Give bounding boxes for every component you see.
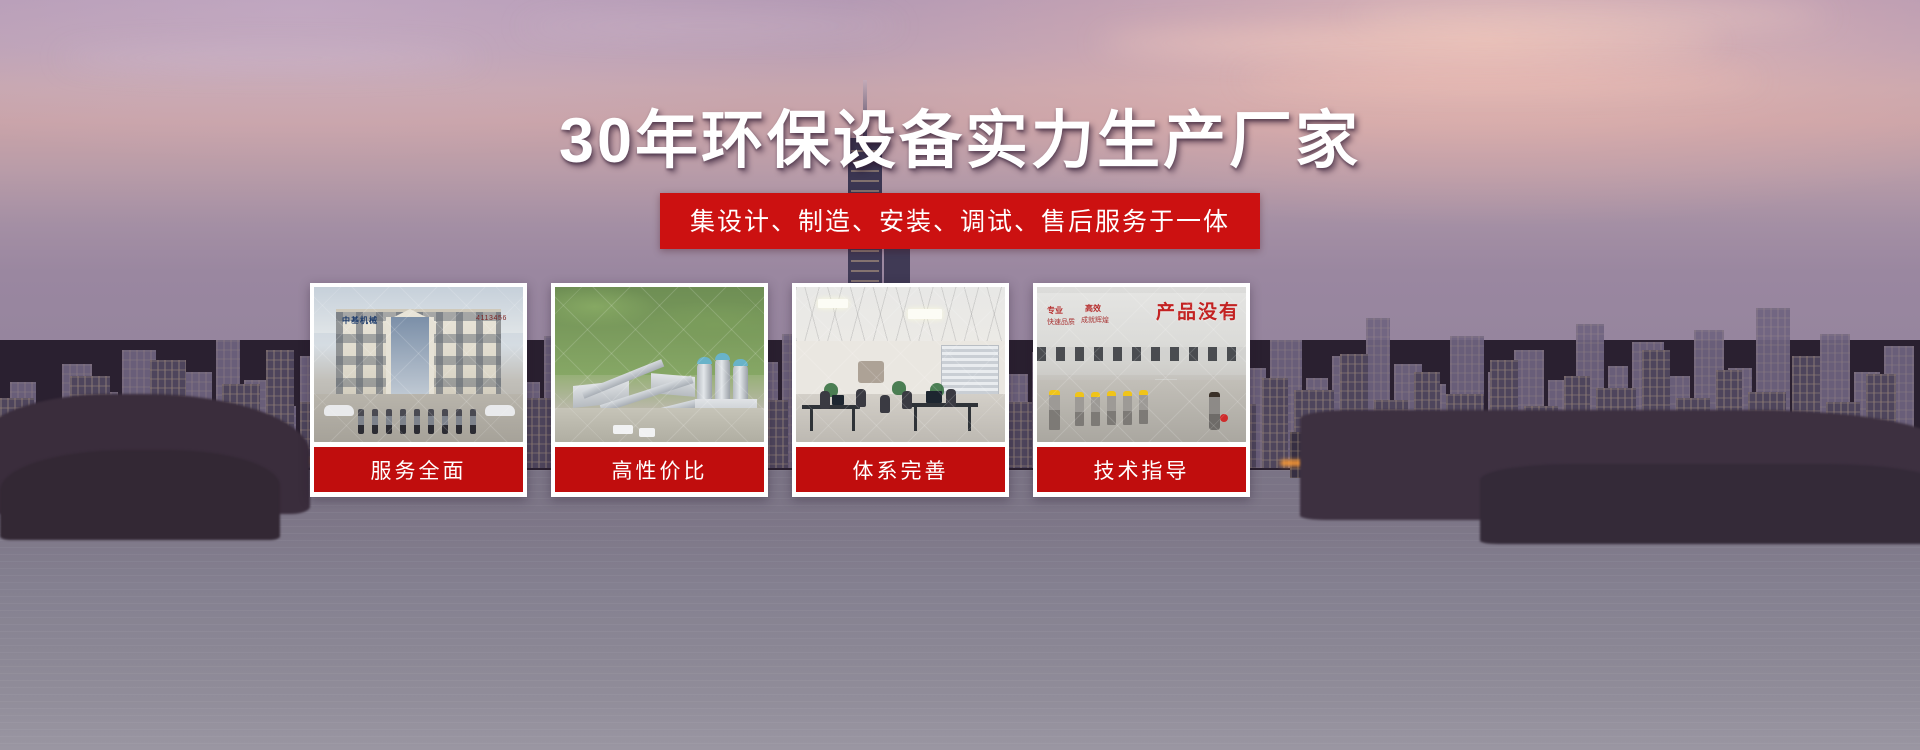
- banner-content: 30年环保设备实力生产厂家 集设计、制造、安装、调试、售后服务于一体 中基机械 …: [0, 0, 1920, 750]
- factory-wall-small-3: 高效: [1085, 303, 1101, 314]
- factory-wall-small-2: 快速品质: [1047, 317, 1075, 327]
- feature-card-list: 中基机械 4113456 服务全面: [310, 283, 1250, 497]
- wall-decal: [858, 361, 884, 383]
- feature-card-system[interactable]: 体系完善: [792, 283, 1009, 497]
- page-title: 30年环保设备实力生产厂家: [0, 104, 1920, 178]
- hero-banner: 30年环保设备实力生产厂家 集设计、制造、安装、调试、售后服务于一体 中基机械 …: [0, 0, 1920, 750]
- factory-wall-small-4: 成就辉煌: [1081, 315, 1109, 325]
- factory-wall-small-1: 专业: [1047, 305, 1063, 316]
- feature-card-value[interactable]: 高性价比: [551, 283, 768, 497]
- subtitle-badge: 集设计、制造、安装、调试、售后服务于一体: [660, 193, 1260, 249]
- card-photo-factory-yard: 产品没有 专业 快速品质 高效 成就辉煌: [1037, 287, 1246, 442]
- building-phone-text: 4113456: [476, 315, 507, 322]
- card-label-guidance: 技术指导: [1037, 447, 1246, 492]
- card-label-value: 高性价比: [555, 447, 764, 492]
- card-label-system: 体系完善: [796, 447, 1005, 492]
- card-photo-office-building: 中基机械 4113456: [314, 287, 523, 442]
- feature-card-guidance[interactable]: 产品没有 专业 快速品质 高效 成就辉煌: [1033, 283, 1250, 497]
- feature-card-service[interactable]: 中基机械 4113456 服务全面: [310, 283, 527, 497]
- card-label-service: 服务全面: [314, 447, 523, 492]
- card-photo-industrial-plant: [555, 287, 764, 442]
- card-photo-office-interior: [796, 287, 1005, 442]
- factory-wall-slogan: 产品没有: [1156, 297, 1240, 324]
- building-sign-text: 中基机械: [342, 315, 378, 326]
